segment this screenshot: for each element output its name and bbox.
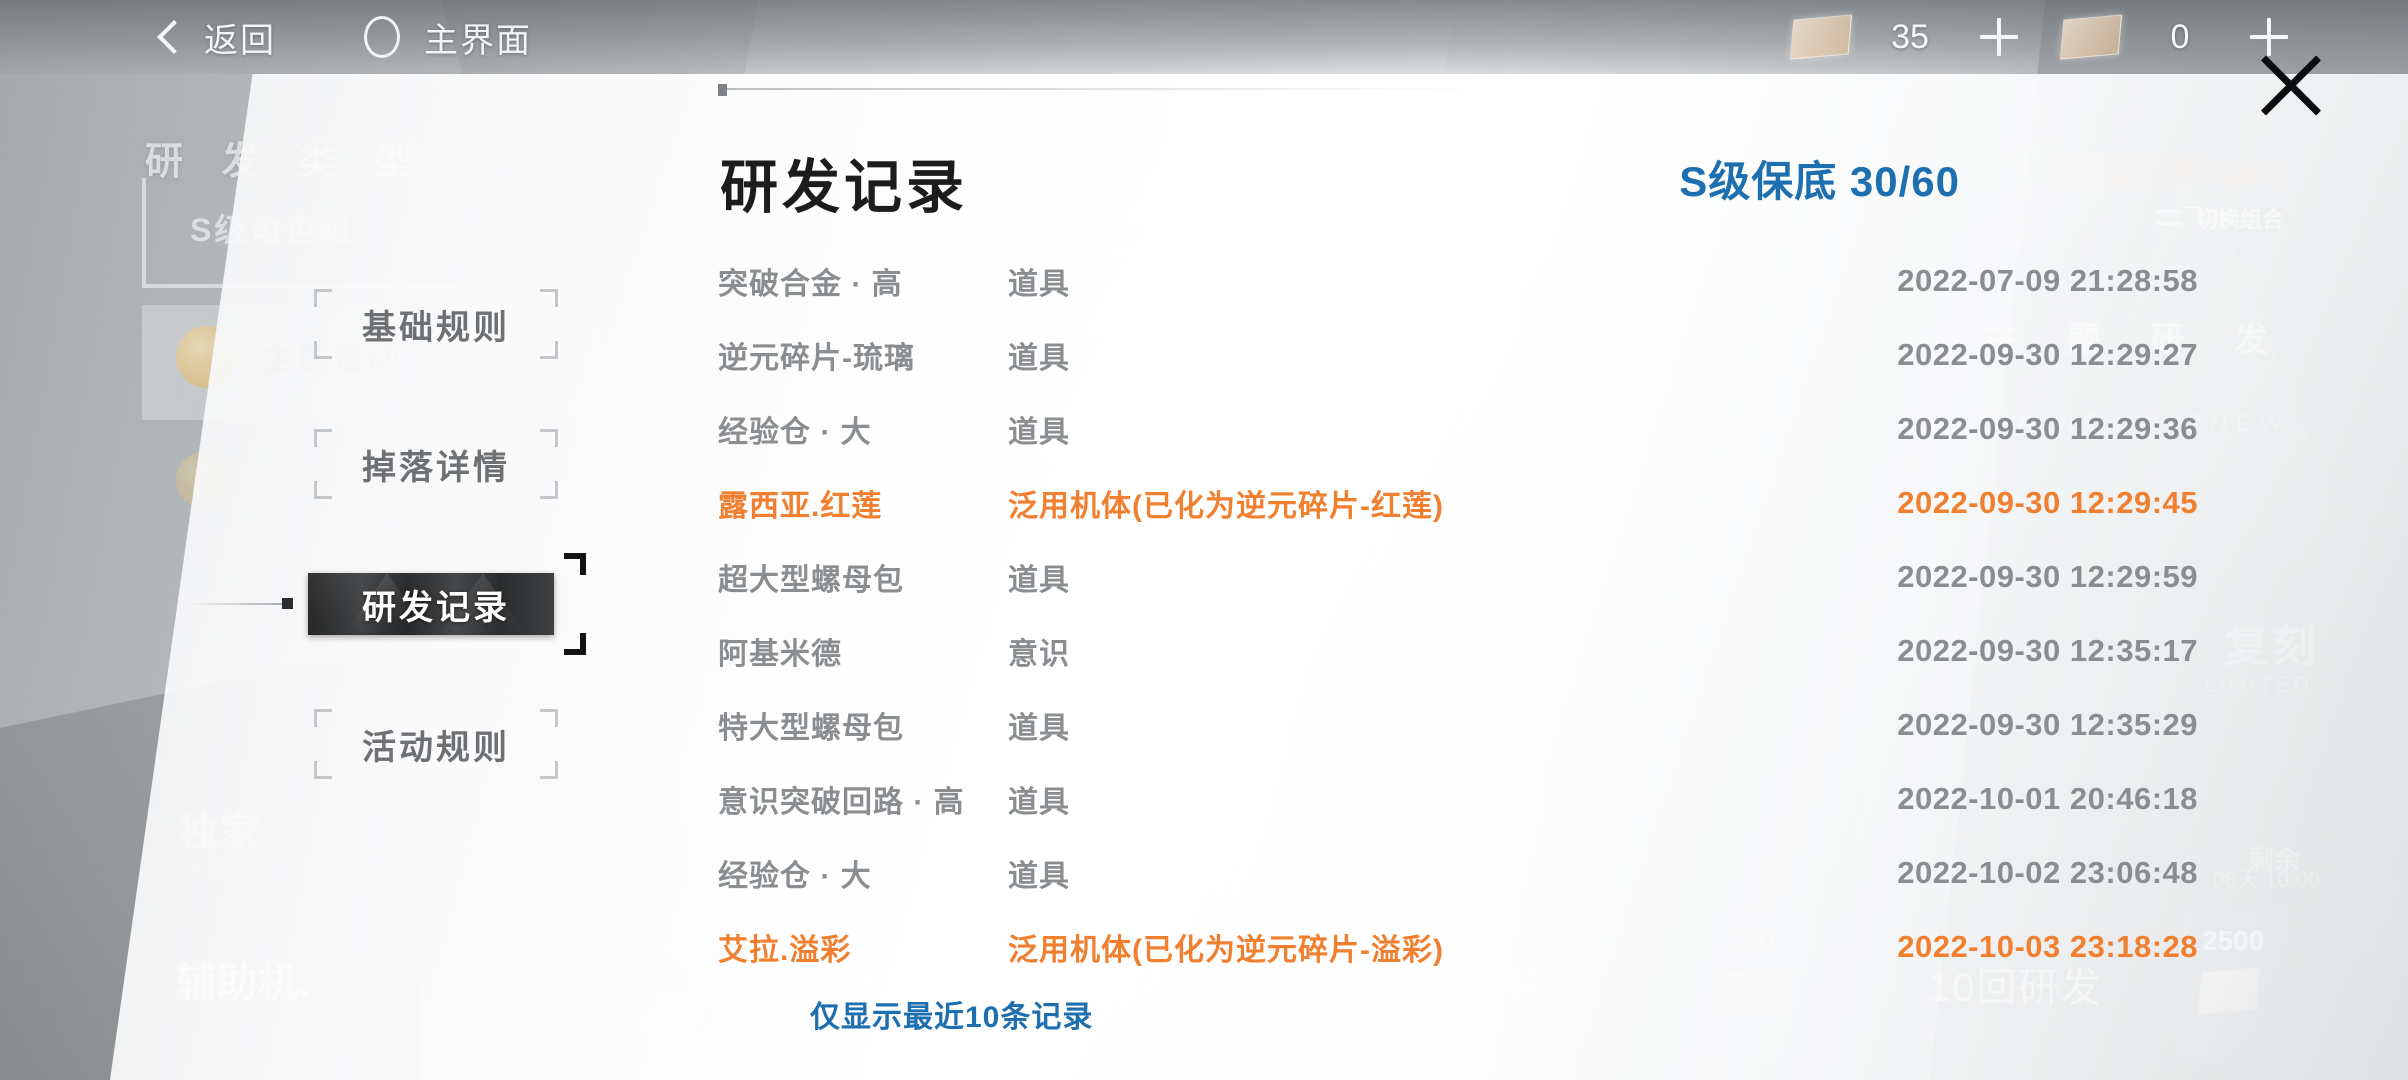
record-type: 泛用机体(已化为逆元碎片-红莲): [1008, 481, 1578, 525]
home-button-label[interactable]: 主界面: [424, 13, 532, 62]
corner-bracket-icon: [540, 429, 558, 447]
table-row: 经验仓 · 大 道具 2022-10-02 23:06:48: [718, 836, 2198, 910]
corner-bracket-icon: [540, 341, 558, 359]
sidebar-item-label: 活动规则: [362, 720, 510, 769]
chevron-left-icon[interactable]: [150, 20, 184, 54]
sidebar-item-drop-details[interactable]: 掉落详情: [300, 425, 572, 503]
record-type: 道具: [1008, 259, 1578, 303]
game-screen: 研 发 类 型 RESEARCH TYPE S级角色组 主题活动 常驻 独家 经…: [0, 0, 2408, 1080]
record-time: 2022-10-03 23:18:28: [1578, 929, 2198, 965]
active-connector-dot: [282, 598, 293, 609]
currency-group-1: 35: [1792, 14, 2062, 60]
corner-bracket-icon: [314, 341, 332, 359]
record-type: 道具: [1008, 851, 1578, 895]
corner-bracket-icon: [564, 553, 586, 575]
sidebar-item-label: 基础规则: [362, 300, 510, 349]
record-name: 阿基米德: [718, 629, 1008, 673]
record-name: 逆元碎片-琉璃: [718, 333, 1008, 377]
currency-icon-2: [2060, 15, 2122, 60]
page-title: 研发记录: [720, 140, 968, 224]
corner-bracket-icon: [314, 761, 332, 779]
record-type: 泛用机体(已化为逆元碎片-溢彩): [1008, 925, 1578, 969]
corner-bracket-icon: [314, 429, 332, 447]
footer-note-wrap: 仅显示最近10条记录: [810, 992, 1093, 1036]
record-name: 经验仓 · 大: [718, 851, 1008, 895]
record-time: 2022-09-30 12:29:27: [1578, 337, 2198, 373]
table-row: 逆元碎片-琉璃 道具 2022-09-30 12:29:27: [718, 318, 2198, 392]
records-footer-note: 仅显示最近10条记录: [810, 992, 1093, 1036]
close-icon[interactable]: [2252, 46, 2330, 124]
table-row-highlighted: 艾拉.溢彩 泛用机体(已化为逆元碎片-溢彩) 2022-10-03 23:18:…: [718, 910, 2198, 984]
table-row: 特大型螺母包 道具 2022-09-30 12:35:29: [718, 688, 2198, 762]
add-currency-1-button[interactable]: [1976, 14, 2022, 60]
record-time: 2022-09-30 12:29:36: [1578, 411, 2198, 447]
top-bar-left: 返回 主界面: [150, 0, 532, 74]
currency-value-2: 0: [2138, 18, 2222, 57]
currency-value-1: 35: [1868, 18, 1952, 57]
record-type: 意识: [1008, 629, 1578, 673]
record-time: 2022-10-02 23:06:48: [1578, 855, 2198, 891]
panel-divider: [718, 88, 1480, 90]
record-type: 道具: [1008, 407, 1578, 451]
active-connector-line: [188, 603, 284, 605]
corner-bracket-icon: [314, 481, 332, 499]
record-type: 道具: [1008, 555, 1578, 599]
panel-divider-marker: [718, 84, 727, 96]
table-row: 经验仓 · 大 道具 2022-09-30 12:29:36: [718, 392, 2198, 466]
record-type: 道具: [1008, 777, 1578, 821]
record-time: 2022-09-30 12:29:45: [1578, 485, 2198, 521]
record-time: 2022-09-30 12:29:59: [1578, 559, 2198, 595]
record-time: 2022-09-30 12:35:17: [1578, 633, 2198, 669]
sidebar-item-basic-rules[interactable]: 基础规则: [300, 285, 572, 363]
corner-bracket-icon: [540, 761, 558, 779]
sidebar-item-label: 掉落详情: [362, 440, 510, 489]
research-records-table: 突破合金 · 高 道具 2022-07-09 21:28:58 逆元碎片-琉璃 …: [718, 244, 2198, 984]
record-time: 2022-10-01 20:46:18: [1578, 781, 2198, 817]
top-bar: 返回 主界面 35 0: [0, 0, 2408, 74]
top-bar-currencies: 35 0: [1792, 0, 2332, 74]
record-time: 2022-09-30 12:35:29: [1578, 707, 2198, 743]
record-name: 突破合金 · 高: [718, 259, 1008, 303]
table-row: 突破合金 · 高 道具 2022-07-09 21:28:58: [718, 244, 2198, 318]
record-name: 超大型螺母包: [718, 555, 1008, 599]
corner-bracket-icon: [540, 289, 558, 307]
record-name: 经验仓 · 大: [718, 407, 1008, 451]
table-row-highlighted: 露西亚.红莲 泛用机体(已化为逆元碎片-红莲) 2022-09-30 12:29…: [718, 466, 2198, 540]
record-time: 2022-07-09 21:28:58: [1578, 263, 2198, 299]
record-name: 意识突破回路 · 高: [718, 777, 1008, 821]
record-name: 露西亚.红莲: [718, 481, 1008, 525]
table-row: 超大型螺母包 道具 2022-09-30 12:29:59: [718, 540, 2198, 614]
corner-bracket-icon: [314, 709, 332, 727]
corner-bracket-icon: [564, 633, 586, 655]
back-button-label[interactable]: 返回: [204, 13, 276, 62]
sidebar-item-research-records[interactable]: 研发记录: [300, 565, 572, 643]
corner-bracket-icon: [314, 289, 332, 307]
sidebar-item-label: 研发记录: [362, 580, 510, 629]
currency-icon-1: [1790, 15, 1852, 60]
table-row: 意识突破回路 · 高 道具 2022-10-01 20:46:18: [718, 762, 2198, 836]
sidebar-item-event-rules[interactable]: 活动规则: [300, 705, 572, 783]
table-row: 阿基米德 意识 2022-09-30 12:35:17: [718, 614, 2198, 688]
record-type: 道具: [1008, 333, 1578, 377]
corner-bracket-icon: [540, 481, 558, 499]
circle-icon[interactable]: [364, 16, 400, 58]
record-name: 特大型螺母包: [718, 703, 1008, 747]
pity-counter-badge: S级保底 30/60: [1679, 148, 1960, 209]
record-name: 艾拉.溢彩: [718, 925, 1008, 969]
rules-sidebar: 基础规则 掉落详情 研发记录 活动规则: [300, 285, 572, 845]
record-type: 道具: [1008, 703, 1578, 747]
corner-bracket-icon: [540, 709, 558, 727]
